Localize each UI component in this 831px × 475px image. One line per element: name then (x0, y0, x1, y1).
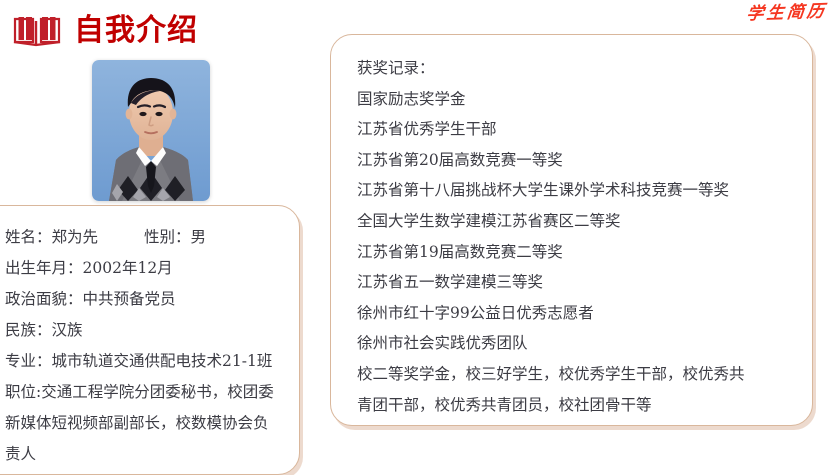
label-gender: 性别： (144, 228, 191, 246)
label-birth: 出生年月： (5, 259, 83, 277)
awards-card-body: 获奖记录： 国家励志奖学金 江苏省优秀学生干部 江苏省第20届高数竞赛一等奖 江… (331, 35, 812, 420)
award-item-9: 校二等奖学金，校三好学生，校优秀学生干部，校优秀共 (357, 359, 796, 390)
info-line-major: 专业：城市轨道交通供配电技术21-1班 (5, 346, 281, 377)
profile-card: 姓名：郑为先性别：男 出生年月：2002年12月 政治面貌：中共预备党员 民族：… (0, 205, 300, 475)
value-gender: 男 (191, 228, 207, 246)
info-line-political-status: 政治面貌：中共预备党员 (5, 284, 281, 315)
awards-heading: 获奖记录： (357, 53, 796, 84)
award-item-7: 徐州市红十字99公益日优秀志愿者 (357, 298, 796, 329)
page-title: 自我介绍 (74, 14, 198, 48)
info-line-position-cont-1: 新媒体短视频部副部长，校数模协会负 (5, 408, 281, 439)
award-item-10: 青团干部，校优秀共青团员，校社团骨干等 (357, 390, 796, 421)
info-line-name: 姓名：郑为先性别：男 (5, 222, 281, 253)
value-birth: 2002年12月 (83, 259, 173, 277)
awards-card: 获奖记录： 国家励志奖学金 江苏省优秀学生干部 江苏省第20届高数竞赛一等奖 江… (330, 34, 813, 426)
award-item-2: 江苏省第20届高数竞赛一等奖 (357, 145, 796, 176)
page-header: 自我介绍 (12, 14, 198, 48)
value-name: 郑为先 (52, 228, 99, 246)
value-ethnicity: 汉族 (52, 321, 83, 339)
info-line-birth: 出生年月：2002年12月 (5, 253, 281, 284)
info-line-position: 职位:交通工程学院分团委秘书，校团委 (5, 377, 281, 408)
award-item-0: 国家励志奖学金 (357, 84, 796, 115)
value-political-status: 中共预备党员 (83, 290, 176, 308)
value-position: 交通工程学院分团委秘书，校团委 (41, 383, 274, 401)
value-major: 城市轨道交通供配电技术21-1班 (52, 352, 273, 370)
label-name: 姓名： (5, 228, 52, 246)
award-item-4: 全国大学生数学建模江苏省赛区二等奖 (357, 206, 796, 237)
label-ethnicity: 民族： (5, 321, 52, 339)
award-item-8: 徐州市社会实践优秀团队 (357, 328, 796, 359)
award-item-3: 江苏省第十八届挑战杯大学生课外学术科技竞赛一等奖 (357, 175, 796, 206)
award-item-6: 江苏省五一数学建模三等奖 (357, 267, 796, 298)
slide-root: 学生简历 自我介绍 (0, 0, 831, 452)
signature-watermark: 学生简历 (746, 0, 829, 24)
profile-photo (92, 60, 210, 201)
bottom-divider (0, 448, 300, 452)
award-item-5: 江苏省第19届高数竞赛二等奖 (357, 237, 796, 268)
open-book-icon (12, 14, 62, 48)
info-line-ethnicity: 民族：汉族 (5, 315, 281, 346)
label-major: 专业： (5, 352, 52, 370)
award-item-1: 江苏省优秀学生干部 (357, 114, 796, 145)
info-line-position-cont-2: 责人 (5, 439, 281, 470)
label-political-status: 政治面貌： (5, 290, 83, 308)
label-position: 职位: (5, 383, 41, 401)
profile-card-body: 姓名：郑为先性别：男 出生年月：2002年12月 政治面貌：中共预备党员 民族：… (0, 206, 299, 470)
